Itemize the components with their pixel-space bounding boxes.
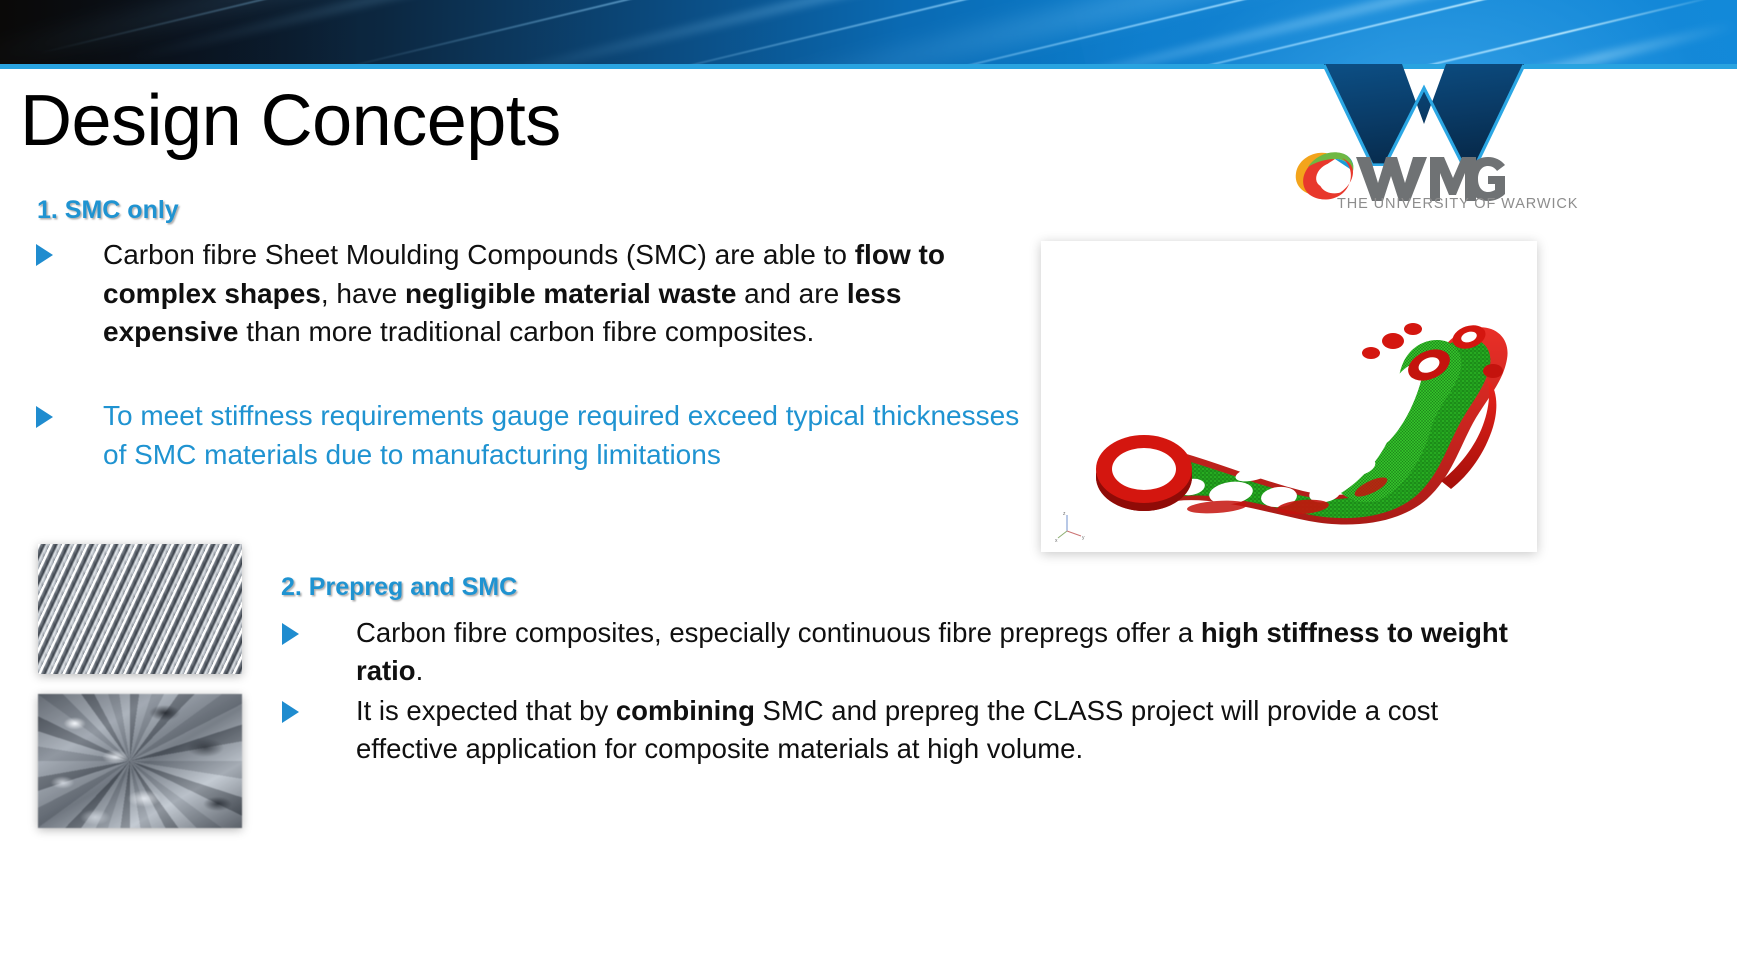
fea-mesh-image: z y x: [1041, 241, 1537, 552]
section-heading-smc-only: 1. SMC only: [37, 196, 179, 225]
banner-underline: [0, 64, 1737, 69]
svg-text:x: x: [1055, 538, 1058, 544]
bullet-item: Carbon fibre Sheet Moulding Compounds (S…: [36, 236, 1026, 352]
mounting-ring: [1096, 435, 1192, 511]
bullet-item: It is expected that by combining SMC and…: [282, 692, 1532, 768]
bullet-triangle-icon: [282, 701, 299, 723]
smc-chopped-fibre-photo: [38, 694, 242, 828]
bullet-text: To meet stiffness requirements gauge req…: [103, 397, 1026, 474]
carbon-fibre-prepreg-photo: [38, 544, 242, 674]
bullet-text: Carbon fibre Sheet Moulding Compounds (S…: [103, 236, 1026, 352]
bullet-triangle-icon: [36, 244, 53, 266]
section-heading-prepreg-and-smc: 2. Prepreg and SMC: [281, 573, 517, 602]
wmg-tagline: THE UNIVERSITY OF WARWICK: [1337, 196, 1578, 212]
svg-text:z: z: [1063, 511, 1066, 517]
bullet-triangle-icon: [36, 406, 53, 428]
coordinate-axis-triad-icon: z y x: [1055, 511, 1085, 544]
svg-text:y: y: [1082, 535, 1085, 541]
bullet-item: Carbon fibre composites, especially cont…: [282, 614, 1532, 690]
wmg-swirl-icon: [1296, 152, 1354, 199]
bullet-triangle-icon: [282, 623, 299, 645]
wmg-wordmark: [1356, 157, 1505, 201]
header-banner: [0, 0, 1737, 68]
bullet-text: It is expected that by combining SMC and…: [356, 692, 1532, 768]
bullet-item: To meet stiffness requirements gauge req…: [36, 397, 1026, 474]
bullet-text: Carbon fibre composites, especially cont…: [356, 614, 1532, 690]
page-title: Design Concepts: [20, 85, 561, 157]
